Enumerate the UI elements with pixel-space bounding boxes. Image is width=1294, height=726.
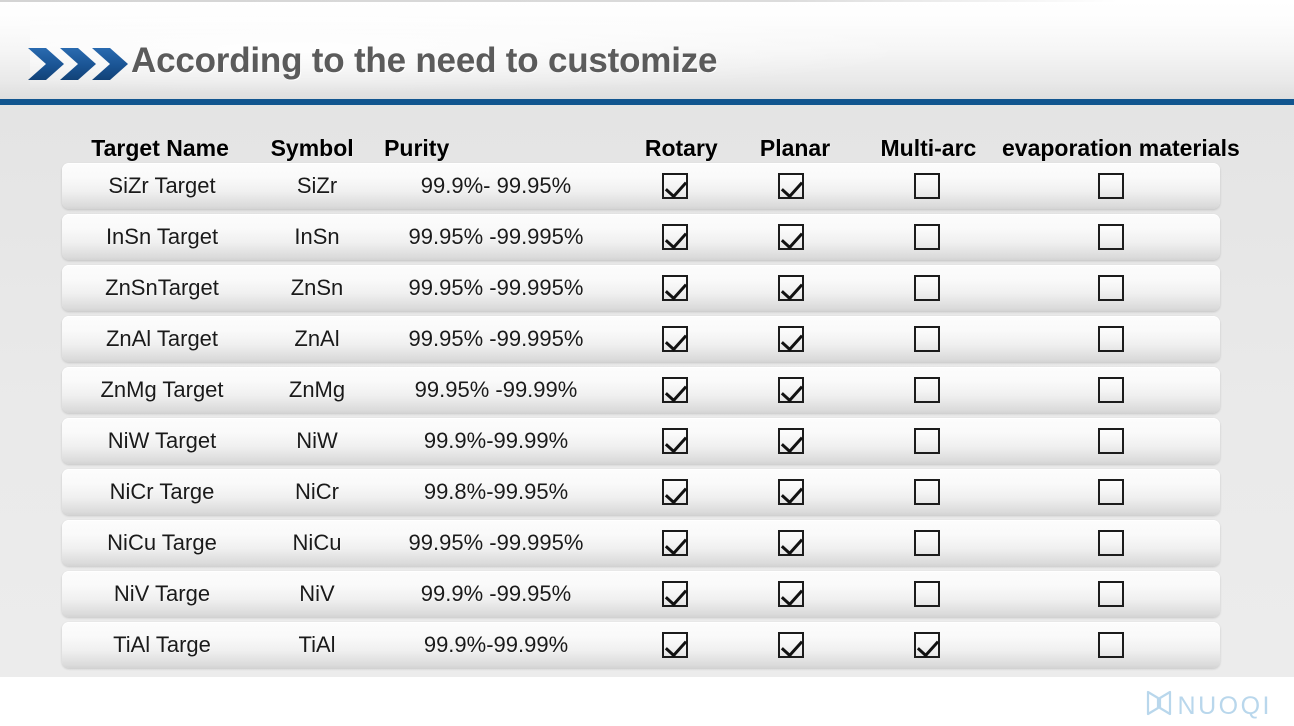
cell-target-name: InSn Target bbox=[62, 225, 262, 249]
checkbox-evaporation-materials[interactable] bbox=[1098, 275, 1124, 301]
cell-symbol: ZnAl bbox=[262, 327, 372, 351]
checkbox-planar[interactable] bbox=[778, 173, 804, 199]
cell-purity: 99.8%-99.95% bbox=[372, 480, 620, 504]
checkbox-multi-arc[interactable] bbox=[914, 479, 940, 505]
checkbox-planar-cell bbox=[730, 632, 852, 658]
checkbox-evaporation-materials-cell bbox=[1002, 632, 1220, 658]
checkbox-planar[interactable] bbox=[778, 275, 804, 301]
table-row: ZnMg TargetZnMg99.95% -99.99% bbox=[62, 367, 1220, 413]
checkbox-rotary[interactable] bbox=[662, 530, 688, 556]
column-header-rotary: Rotary bbox=[627, 135, 735, 161]
cell-symbol: NiCu bbox=[262, 531, 372, 555]
checkbox-planar[interactable] bbox=[778, 224, 804, 250]
cell-purity: 99.95% -99.995% bbox=[372, 276, 620, 300]
checkbox-multi-arc[interactable] bbox=[914, 224, 940, 250]
checkbox-multi-arc-cell bbox=[852, 275, 1002, 301]
column-header-symbol: Symbol bbox=[258, 135, 366, 161]
cell-target-name: NiCu Targe bbox=[62, 531, 262, 555]
checkbox-evaporation-materials[interactable] bbox=[1098, 173, 1124, 199]
checkbox-multi-arc-cell bbox=[852, 428, 1002, 454]
checkbox-rotary-cell bbox=[620, 326, 730, 352]
cell-purity: 99.95% -99.99% bbox=[372, 378, 620, 402]
checkbox-evaporation-materials[interactable] bbox=[1098, 530, 1124, 556]
checkbox-planar[interactable] bbox=[778, 326, 804, 352]
cell-symbol: NiCr bbox=[262, 480, 372, 504]
table-body: SiZr TargetSiZr99.9%- 99.95%InSn TargetI… bbox=[62, 163, 1220, 668]
checkbox-rotary-cell bbox=[620, 479, 730, 505]
footer-area bbox=[0, 677, 1294, 726]
checkbox-planar-cell bbox=[730, 581, 852, 607]
checkbox-planar-cell bbox=[730, 530, 852, 556]
checkbox-multi-arc[interactable] bbox=[914, 581, 940, 607]
checkbox-multi-arc[interactable] bbox=[914, 377, 940, 403]
cell-purity: 99.9%-99.99% bbox=[372, 429, 620, 453]
checkbox-evaporation-materials[interactable] bbox=[1098, 479, 1124, 505]
checkbox-rotary-cell bbox=[620, 632, 730, 658]
table-row: ZnSnTargetZnSn99.95% -99.995% bbox=[62, 265, 1220, 311]
checkbox-rotary-cell bbox=[620, 581, 730, 607]
table-header-row: Target Name Symbol Purity Rotary Planar … bbox=[62, 117, 1220, 161]
table-row: SiZr TargetSiZr99.9%- 99.95% bbox=[62, 163, 1220, 209]
checkbox-planar-cell bbox=[730, 275, 852, 301]
cell-symbol: NiV bbox=[262, 582, 372, 606]
cell-target-name: NiV Targe bbox=[62, 582, 262, 606]
checkbox-rotary[interactable] bbox=[662, 326, 688, 352]
checkbox-evaporation-materials[interactable] bbox=[1098, 428, 1124, 454]
cell-purity: 99.95% -99.995% bbox=[372, 531, 620, 555]
cell-symbol: ZnMg bbox=[262, 378, 372, 402]
cell-symbol: InSn bbox=[262, 225, 372, 249]
page-title: According to the need to customize bbox=[131, 41, 717, 81]
slide-canvas: According to the need to customize Targe… bbox=[0, 0, 1294, 726]
checkbox-multi-arc-cell bbox=[852, 479, 1002, 505]
cell-symbol: SiZr bbox=[262, 174, 372, 198]
cell-target-name: ZnAl Target bbox=[62, 327, 262, 351]
target-materials-table: Target Name Symbol Purity Rotary Planar … bbox=[62, 117, 1220, 668]
checkbox-multi-arc-cell bbox=[852, 530, 1002, 556]
checkbox-rotary[interactable] bbox=[662, 479, 688, 505]
cell-symbol: ZnSn bbox=[262, 276, 372, 300]
checkbox-multi-arc[interactable] bbox=[914, 428, 940, 454]
cell-target-name: SiZr Target bbox=[62, 174, 262, 198]
checkbox-rotary-cell bbox=[620, 377, 730, 403]
checkbox-evaporation-materials[interactable] bbox=[1098, 224, 1124, 250]
checkbox-evaporation-materials-cell bbox=[1002, 275, 1220, 301]
checkbox-evaporation-materials-cell bbox=[1002, 326, 1220, 352]
checkbox-rotary[interactable] bbox=[662, 377, 688, 403]
checkbox-planar[interactable] bbox=[778, 377, 804, 403]
table-row: InSn TargetInSn99.95% -99.995% bbox=[62, 214, 1220, 260]
checkbox-multi-arc-cell bbox=[852, 173, 1002, 199]
triple-chevron-right-icon bbox=[26, 44, 138, 84]
cell-target-name: TiAl Targe bbox=[62, 633, 262, 657]
checkbox-multi-arc-cell bbox=[852, 326, 1002, 352]
cell-symbol: NiW bbox=[262, 429, 372, 453]
checkbox-planar[interactable] bbox=[778, 428, 804, 454]
checkbox-evaporation-materials-cell bbox=[1002, 377, 1220, 403]
checkbox-multi-arc-cell bbox=[852, 377, 1002, 403]
checkbox-rotary[interactable] bbox=[662, 224, 688, 250]
checkbox-rotary[interactable] bbox=[662, 428, 688, 454]
checkbox-multi-arc[interactable] bbox=[914, 173, 940, 199]
table-row: NiCr TargeNiCr99.8%-99.95% bbox=[62, 469, 1220, 515]
checkbox-rotary-cell bbox=[620, 275, 730, 301]
checkbox-planar[interactable] bbox=[778, 479, 804, 505]
column-header-purity: Purity bbox=[366, 135, 627, 161]
open-book-logo-icon bbox=[1146, 689, 1172, 722]
checkbox-evaporation-materials[interactable] bbox=[1098, 632, 1124, 658]
checkbox-evaporation-materials-cell bbox=[1002, 428, 1220, 454]
checkbox-planar-cell bbox=[730, 326, 852, 352]
checkbox-evaporation-materials-cell bbox=[1002, 224, 1220, 250]
checkbox-planar[interactable] bbox=[778, 632, 804, 658]
checkbox-multi-arc[interactable] bbox=[914, 275, 940, 301]
table-row: NiCu TargeNiCu99.95% -99.995% bbox=[62, 520, 1220, 566]
column-header-target-name: Target Name bbox=[62, 135, 258, 161]
cell-purity: 99.9% -99.95% bbox=[372, 582, 620, 606]
checkbox-evaporation-materials-cell bbox=[1002, 530, 1220, 556]
column-header-multi-arc: Multi-arc bbox=[855, 135, 1002, 161]
cell-purity: 99.9%- 99.95% bbox=[372, 174, 620, 198]
table-row: TiAl TargeTiAl99.9%-99.99% bbox=[62, 622, 1220, 668]
checkbox-evaporation-materials[interactable] bbox=[1098, 377, 1124, 403]
brand-wordmark: NUOQI bbox=[1178, 693, 1272, 719]
table-row: NiW TargetNiW99.9%-99.99% bbox=[62, 418, 1220, 464]
cell-target-name: ZnMg Target bbox=[62, 378, 262, 402]
cell-purity: 99.95% -99.995% bbox=[372, 225, 620, 249]
column-header-evaporation-materials: evaporation materials bbox=[1002, 135, 1220, 161]
checkbox-rotary-cell bbox=[620, 173, 730, 199]
cell-symbol: TiAl bbox=[262, 633, 372, 657]
cell-purity: 99.9%-99.99% bbox=[372, 633, 620, 657]
checkbox-evaporation-materials[interactable] bbox=[1098, 581, 1124, 607]
table-row: NiV TargeNiV99.9% -99.95% bbox=[62, 571, 1220, 617]
checkbox-multi-arc[interactable] bbox=[914, 326, 940, 352]
cell-target-name: ZnSnTarget bbox=[62, 276, 262, 300]
checkbox-rotary-cell bbox=[620, 224, 730, 250]
checkbox-rotary[interactable] bbox=[662, 632, 688, 658]
cell-purity: 99.95% -99.995% bbox=[372, 327, 620, 351]
checkbox-planar[interactable] bbox=[778, 530, 804, 556]
checkbox-rotary-cell bbox=[620, 428, 730, 454]
column-header-planar: Planar bbox=[735, 135, 855, 161]
checkbox-evaporation-materials-cell bbox=[1002, 173, 1220, 199]
cell-target-name: NiW Target bbox=[62, 429, 262, 453]
checkbox-evaporation-materials-cell bbox=[1002, 479, 1220, 505]
checkbox-multi-arc-cell bbox=[852, 224, 1002, 250]
checkbox-planar-cell bbox=[730, 428, 852, 454]
checkbox-planar-cell bbox=[730, 224, 852, 250]
checkbox-evaporation-materials[interactable] bbox=[1098, 326, 1124, 352]
checkbox-rotary[interactable] bbox=[662, 173, 688, 199]
checkbox-rotary-cell bbox=[620, 530, 730, 556]
checkbox-planar[interactable] bbox=[778, 581, 804, 607]
checkbox-rotary[interactable] bbox=[662, 581, 688, 607]
cell-target-name: NiCr Targe bbox=[62, 480, 262, 504]
checkbox-planar-cell bbox=[730, 479, 852, 505]
checkbox-evaporation-materials-cell bbox=[1002, 581, 1220, 607]
checkbox-rotary[interactable] bbox=[662, 275, 688, 301]
checkbox-planar-cell bbox=[730, 377, 852, 403]
checkbox-planar-cell bbox=[730, 173, 852, 199]
checkbox-multi-arc[interactable] bbox=[914, 632, 940, 658]
checkbox-multi-arc-cell bbox=[852, 632, 1002, 658]
table-row: ZnAl TargetZnAl99.95% -99.995% bbox=[62, 316, 1220, 362]
brand-logo: NUOQI bbox=[1146, 689, 1272, 722]
checkbox-multi-arc[interactable] bbox=[914, 530, 940, 556]
checkbox-multi-arc-cell bbox=[852, 581, 1002, 607]
